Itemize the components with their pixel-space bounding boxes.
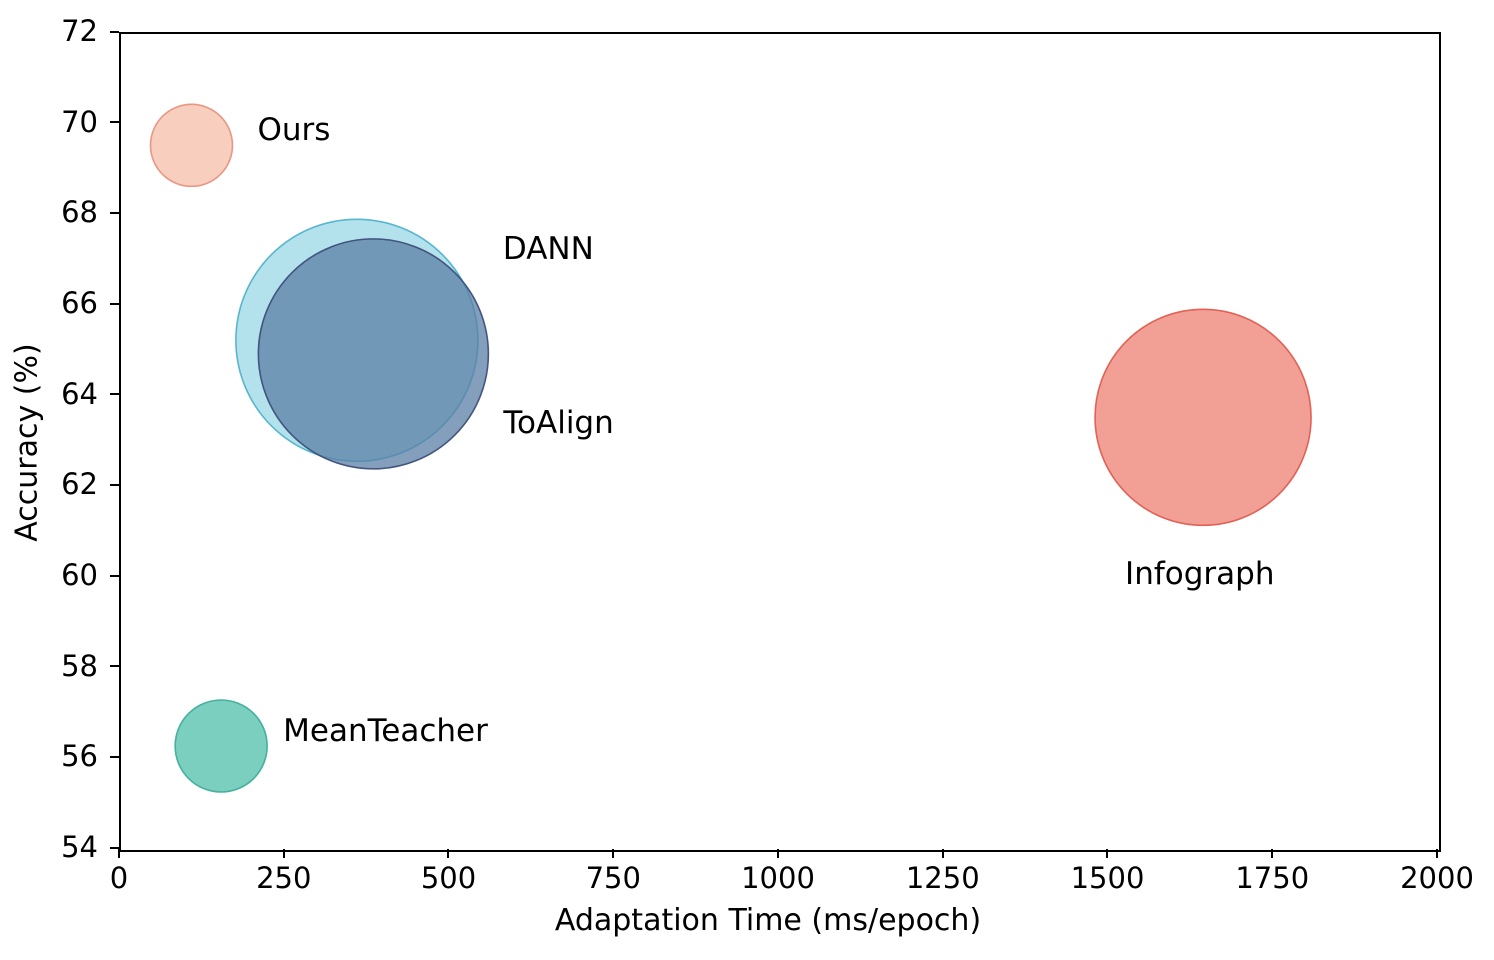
bubble-label-toalign: ToAlign	[503, 408, 613, 439]
y-tick-mark	[110, 484, 119, 486]
x-tick-label: 1000	[741, 864, 815, 893]
bubble-label-meanteacher: MeanTeacher	[283, 716, 488, 747]
x-tick-mark	[942, 849, 944, 858]
y-tick-mark	[110, 31, 119, 33]
y-tick-label: 60	[61, 561, 98, 590]
x-tick-label: 0	[110, 864, 128, 893]
bubble-label-dann: DANN	[503, 234, 594, 265]
x-tick-mark	[612, 849, 614, 858]
x-tick-mark	[283, 849, 285, 858]
y-tick-label: 66	[61, 289, 98, 318]
y-tick-label: 56	[61, 742, 98, 771]
y-tick-label: 64	[61, 380, 98, 409]
y-tick-label: 58	[61, 652, 98, 681]
y-tick-mark	[110, 393, 119, 395]
x-tick-label: 500	[421, 864, 476, 893]
x-tick-mark	[447, 849, 449, 858]
y-tick-label: 70	[61, 108, 98, 137]
y-tick-label: 54	[61, 833, 98, 862]
y-tick-label: 62	[61, 470, 98, 499]
y-axis-title: Accuracy (%)	[10, 253, 45, 633]
y-tick-mark	[110, 121, 119, 123]
y-tick-label: 72	[61, 17, 98, 46]
y-tick-mark	[110, 756, 119, 758]
x-tick-mark	[1436, 849, 1438, 858]
x-axis-title: Adaptation Time (ms/epoch)	[0, 903, 1494, 938]
x-tick-label: 1750	[1235, 864, 1309, 893]
y-tick-mark	[110, 575, 119, 577]
x-tick-mark	[777, 849, 779, 858]
x-tick-mark	[118, 849, 120, 858]
y-tick-mark	[110, 303, 119, 305]
y-tick-mark	[110, 212, 119, 214]
bubble-label-infograph: Infograph	[1125, 559, 1274, 590]
x-tick-mark	[1271, 849, 1273, 858]
x-tick-label: 750	[586, 864, 641, 893]
x-tick-label: 1500	[1071, 864, 1145, 893]
y-tick-label: 68	[61, 198, 98, 227]
chart-canvas: 54565860626466687072 0250500750100012501…	[0, 0, 1494, 960]
x-tick-label: 2000	[1400, 864, 1474, 893]
x-tick-label: 250	[256, 864, 311, 893]
x-tick-label: 1250	[906, 864, 980, 893]
x-tick-mark	[1106, 849, 1108, 858]
y-tick-mark	[110, 665, 119, 667]
bubble-label-ours: Ours	[257, 115, 330, 146]
